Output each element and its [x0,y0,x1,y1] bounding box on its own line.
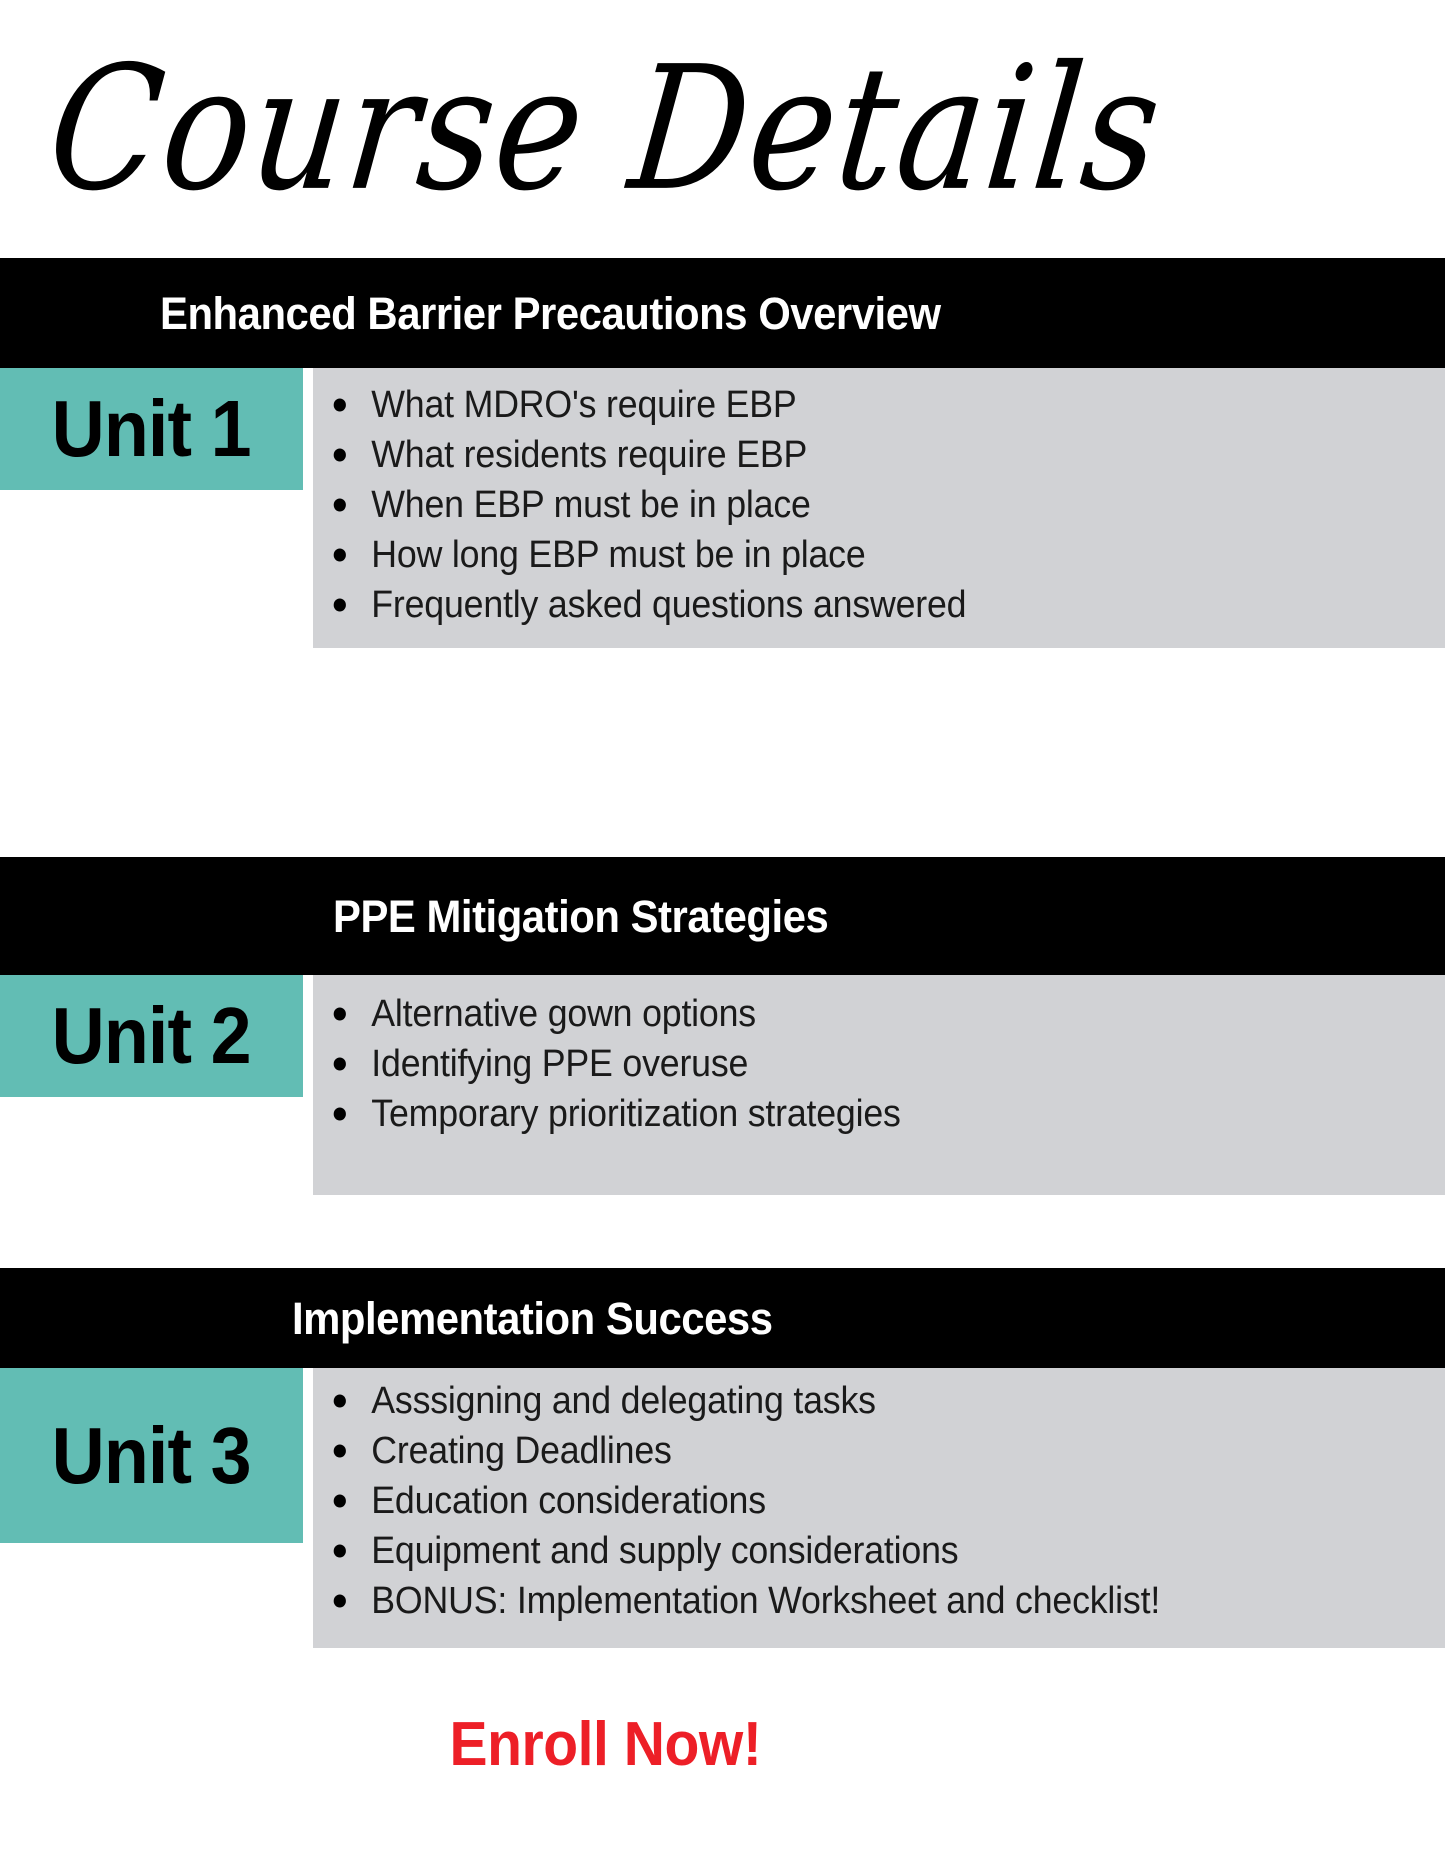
list-item-label: What MDRO's require EBP [371,384,796,426]
list-item: BONUS: Implementation Worksheet and chec… [313,1576,1377,1626]
bullet-dot-icon [334,1008,346,1021]
unit-3-header-title: Implementation Success [292,1296,773,1341]
unit-1-bullet-list: What MDRO's require EBP What residents r… [313,380,1445,630]
list-item-label: Temporary prioritization strategies [371,1093,900,1135]
list-item: How long EBP must be in place [313,530,1377,580]
unit-2-body: Unit 2 Alternative gown options Identify… [0,975,1445,1195]
bullet-dot-icon [334,1395,346,1408]
list-item: What MDRO's require EBP [313,380,1377,430]
list-item: Education considerations [313,1476,1377,1526]
list-item-label: BONUS: Implementation Worksheet and chec… [371,1580,1160,1622]
unit-2-badge: Unit 2 [0,975,303,1097]
list-item: What residents require EBP [313,430,1377,480]
list-item: Frequently asked questions answered [313,580,1377,630]
list-item: When EBP must be in place [313,480,1377,530]
unit-block-3: Implementation Success Unit 3 Asssigning… [0,1268,1445,1648]
list-item: Alternative gown options [313,989,1377,1039]
list-item-label: What residents require EBP [371,434,807,476]
bullet-dot-icon [334,1545,346,1558]
unit-block-2: PPE Mitigation Strategies Unit 2 Alterna… [0,857,1445,1195]
unit-2-badge-label: Unit 2 [52,996,251,1076]
bullet-dot-icon [334,1495,346,1508]
unit-1-badge-label: Unit 1 [52,389,251,469]
unit-2-list-panel: Alternative gown options Identifying PPE… [313,975,1445,1195]
page-title-text: Course Details [42,43,1169,214]
list-item-label: Frequently asked questions answered [371,584,966,626]
unit-3-bullet-list: Asssigning and delegating tasks Creating… [313,1376,1445,1626]
unit-3-header-bar: Implementation Success [0,1268,1445,1368]
list-item: Asssigning and delegating tasks [313,1376,1377,1426]
list-item: Identifying PPE overuse [313,1039,1377,1089]
unit-1-header-title: Enhanced Barrier Precautions Overview [160,291,941,336]
unit-2-header-bar: PPE Mitigation Strategies [0,857,1445,975]
bullet-dot-icon [334,499,346,512]
list-item-label: Equipment and supply considerations [371,1530,958,1572]
bullet-dot-icon [334,1445,346,1458]
list-item-label: Identifying PPE overuse [371,1043,748,1085]
unit-2-bullet-list: Alternative gown options Identifying PPE… [313,989,1445,1139]
unit-block-1: Enhanced Barrier Precautions Overview Un… [0,258,1445,648]
list-item: Equipment and supply considerations [313,1526,1377,1576]
list-item-label: Creating Deadlines [371,1430,671,1472]
bullet-dot-icon [334,1595,346,1608]
unit-3-badge: Unit 3 [0,1368,303,1543]
unit-2-header-title: PPE Mitigation Strategies [333,894,828,939]
unit-3-list-panel: Asssigning and delegating tasks Creating… [313,1368,1445,1648]
enroll-now-label[interactable]: Enroll Now! [450,1714,762,1776]
unit-1-body: Unit 1 What MDRO's require EBP What resi… [0,368,1445,648]
unit-3-badge-label: Unit 3 [52,1416,251,1496]
list-item: Creating Deadlines [313,1426,1377,1476]
bullet-dot-icon [334,449,346,462]
unit-1-list-panel: What MDRO's require EBP What residents r… [313,368,1445,648]
enroll-cta[interactable]: Enroll Now! [0,1690,1211,1800]
bullet-dot-icon [334,399,346,412]
bullet-dot-icon [334,549,346,562]
unit-1-badge: Unit 1 [0,368,303,490]
list-item-label: How long EBP must be in place [371,534,865,576]
course-details-poster: Course Details Enhanced Barrier Precauti… [0,0,1445,1871]
bullet-dot-icon [334,599,346,612]
bullet-dot-icon [334,1058,346,1071]
list-item: Temporary prioritization strategies [313,1089,1377,1139]
list-item-label: When EBP must be in place [371,484,810,526]
list-item-label: Education considerations [371,1480,766,1522]
list-item-label: Asssigning and delegating tasks [371,1380,876,1422]
page-title: Course Details [0,0,1211,258]
bullet-dot-icon [334,1108,346,1121]
list-item-label: Alternative gown options [371,993,756,1035]
unit-3-body: Unit 3 Asssigning and delegating tasks C… [0,1368,1445,1648]
unit-1-header-bar: Enhanced Barrier Precautions Overview [0,258,1445,368]
